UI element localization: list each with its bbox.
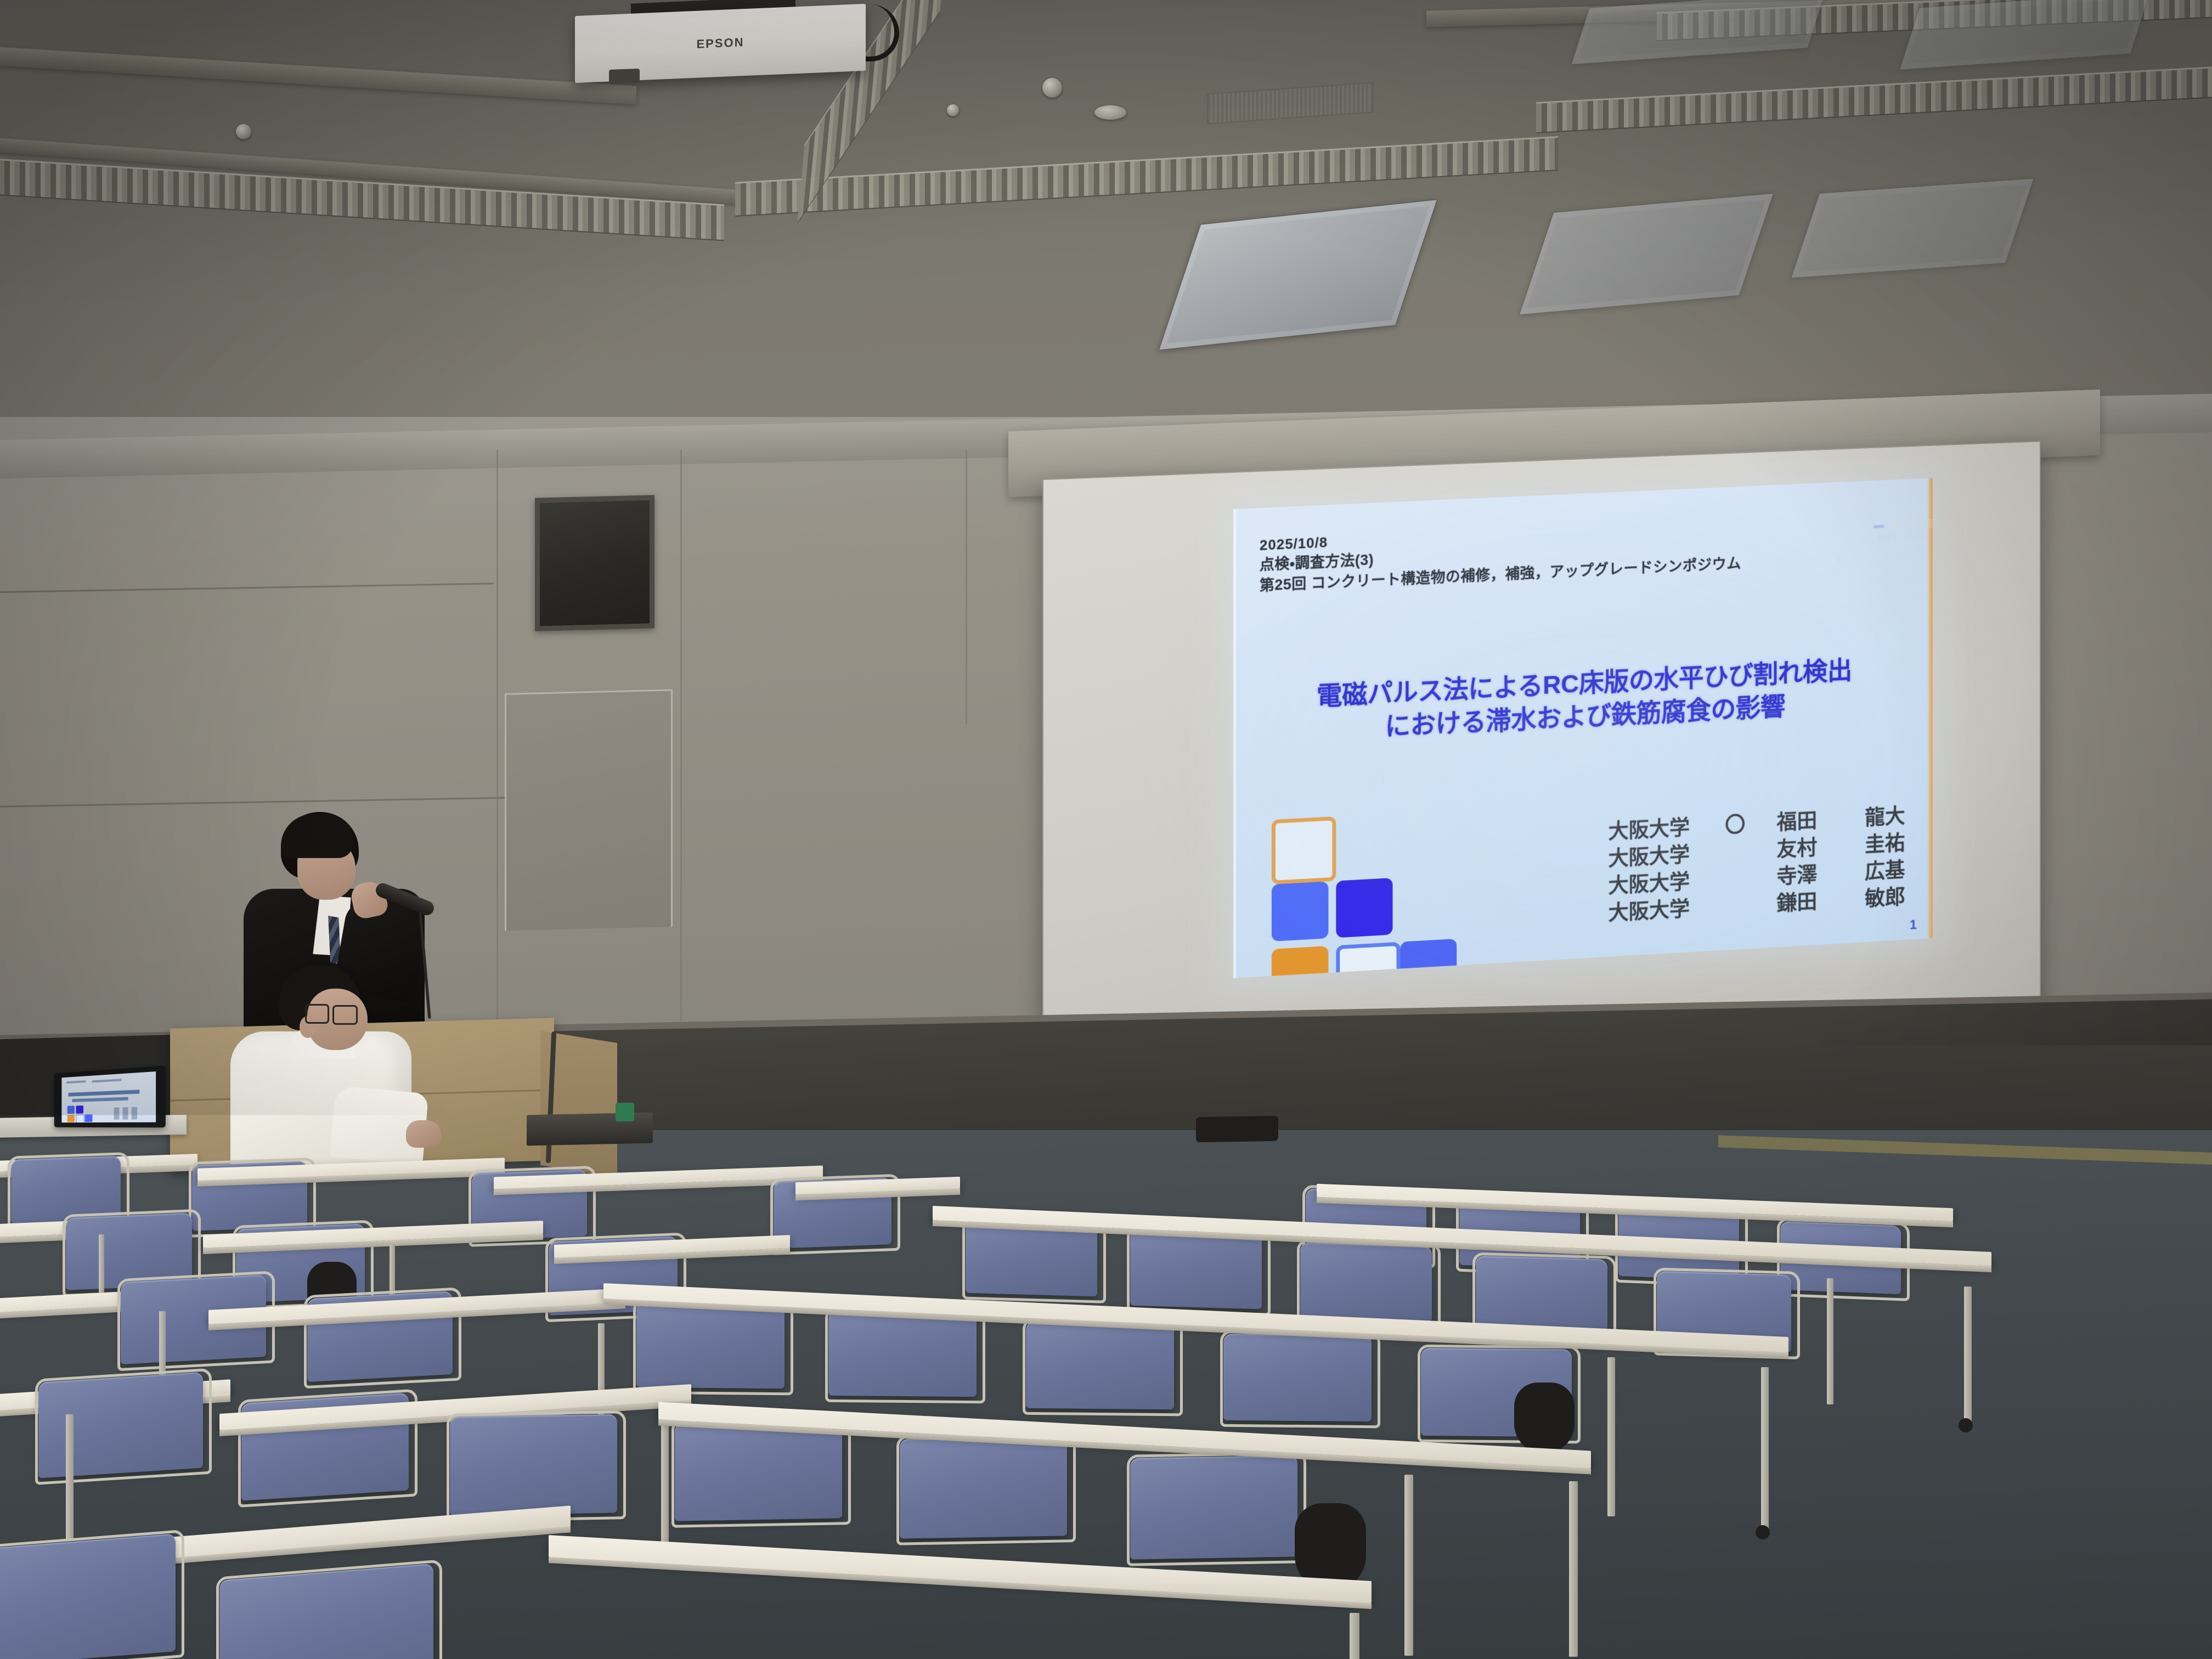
author-family-name: 寺澤: [1745, 861, 1817, 893]
attendee-hand: [406, 1120, 441, 1148]
wall-seam: [680, 450, 682, 1064]
wall-access-panel: [505, 689, 673, 930]
chair: [1300, 1243, 1432, 1322]
desk-leg: [1607, 1357, 1615, 1516]
smoke-detector-icon: [1094, 105, 1126, 120]
presenter-overlay-icons[interactable]: ▬ ▮ ☰ ▥: [1874, 518, 1933, 531]
chair: [450, 1414, 617, 1515]
logo-tile-1: [1272, 816, 1336, 884]
lecture-hall-scene: EPSON 2025/10/8 点検・調査方法(3) 第25回 コンクリート構造…: [0, 0, 2212, 1659]
presenter-mark: [1721, 893, 1746, 921]
presenter-mark: [1721, 865, 1746, 894]
author-given-name: 敏郎: [1817, 883, 1905, 915]
desk-leg: [1404, 1475, 1413, 1656]
slide-edge-glow: [1927, 478, 1933, 938]
author-given-name: 龍大: [1817, 803, 1905, 834]
desk-leg: [1569, 1481, 1578, 1657]
chair: [219, 1564, 433, 1659]
wall-speaker: [535, 495, 654, 631]
slide-title: 電磁パルス法によるRC床版の水平ひび割れ検出 における滞水および鉄筋腐食の影響: [1233, 649, 1933, 751]
presenter-overlay-toolbar[interactable]: ▬ ▮ ☰ ▥ 発言中 · Room 1: [1874, 518, 1933, 543]
desk-caster: [1756, 1525, 1770, 1539]
ceiling-light-panel: [1899, 0, 2151, 70]
grid-view-icon[interactable]: ▥: [1924, 518, 1934, 529]
chair: [1223, 1334, 1372, 1421]
ceiling-vent: [1207, 82, 1374, 124]
chair: [675, 1419, 842, 1521]
pen-underline-icon[interactable]: ▬: [1874, 520, 1884, 531]
wall-seam: [0, 583, 494, 593]
wall-seam: [0, 796, 549, 807]
chair: [828, 1311, 977, 1397]
slide-rect-icon[interactable]: ▮: [1892, 519, 1898, 529]
author-family-name: 福田: [1745, 807, 1817, 838]
attendee-glasses-left-lens: [305, 1004, 329, 1024]
desk-caster: [1959, 1418, 1973, 1432]
desk-leg: [1350, 1613, 1359, 1659]
desk-leg: [66, 1414, 74, 1541]
green-cup: [616, 1103, 634, 1122]
projector-lens: [609, 69, 640, 84]
ceiling-light-panel: [1519, 193, 1774, 315]
ceiling-light-panel: [1571, 0, 1826, 65]
operator-laptop[interactable]: [48, 1068, 163, 1129]
desk-leg: [1827, 1278, 1833, 1404]
attendee-seated: [225, 966, 433, 1169]
black-bag: [1196, 1116, 1278, 1143]
sprinkler-head-icon: [1042, 78, 1062, 98]
ceiling-light-panel: [1159, 199, 1437, 350]
desk-leg: [1761, 1367, 1769, 1532]
desk-leg: [661, 1421, 669, 1547]
sprinkler-head-icon: [236, 124, 251, 139]
author-affiliation: 大阪大学: [1609, 894, 1721, 927]
projected-slide: 2025/10/8 点検・調査方法(3) 第25回 コンクリート構造物の補修，補…: [1233, 478, 1933, 978]
presenter-mark: 〇: [1721, 811, 1746, 839]
chair-shadow: [1514, 1383, 1575, 1454]
chair: [900, 1436, 1067, 1538]
author-given-name: 圭祐: [1817, 830, 1905, 861]
presenter-hair-fringe: [281, 814, 353, 858]
ceiling-air-grille: [1536, 65, 2212, 133]
desk-leg: [554, 1580, 564, 1659]
osaka-university-logo: [1272, 810, 1458, 976]
chair: [1026, 1322, 1174, 1409]
chair: [636, 1302, 785, 1389]
sprinkler-head-icon: [947, 104, 959, 116]
slide-header: 2025/10/8 点検・調査方法(3) 第25回 コンクリート構造物の補修，補…: [1260, 513, 1741, 597]
presenter-mark: [1721, 838, 1746, 867]
author-given-name: 広基: [1817, 856, 1905, 888]
ceiling-light-panel: [1791, 178, 2034, 278]
chair: [0, 1533, 176, 1659]
logo-tile-3: [1336, 878, 1392, 938]
author-family-name: 友村: [1745, 834, 1817, 866]
chair: [1130, 1230, 1262, 1310]
subtitles-icon[interactable]: ☰: [1906, 518, 1915, 529]
projector-brand-label: EPSON: [696, 35, 744, 52]
presenter-overlay-caption: 発言中 · Room 1: [1877, 531, 1929, 543]
logo-tile-2: [1272, 882, 1329, 942]
wall-seam: [496, 450, 498, 1064]
slide-page-number: 1: [1910, 918, 1917, 933]
chair: [1130, 1455, 1297, 1559]
ceiling-beam: [0, 46, 636, 104]
author-family-name: 鎌田: [1745, 888, 1817, 919]
attendee-glasses-right-lens: [332, 1005, 358, 1025]
wall-seam: [966, 450, 967, 724]
laptop-screen[interactable]: [61, 1071, 156, 1122]
ceiling: EPSON: [0, 0, 2212, 450]
author-list: 大阪大学 〇 福田 龍大 大阪大学 友村 圭祐 大阪大学 寺澤 広基 大阪大学 …: [1609, 803, 1905, 927]
desk-leg: [1964, 1286, 1972, 1424]
chair: [38, 1372, 203, 1479]
